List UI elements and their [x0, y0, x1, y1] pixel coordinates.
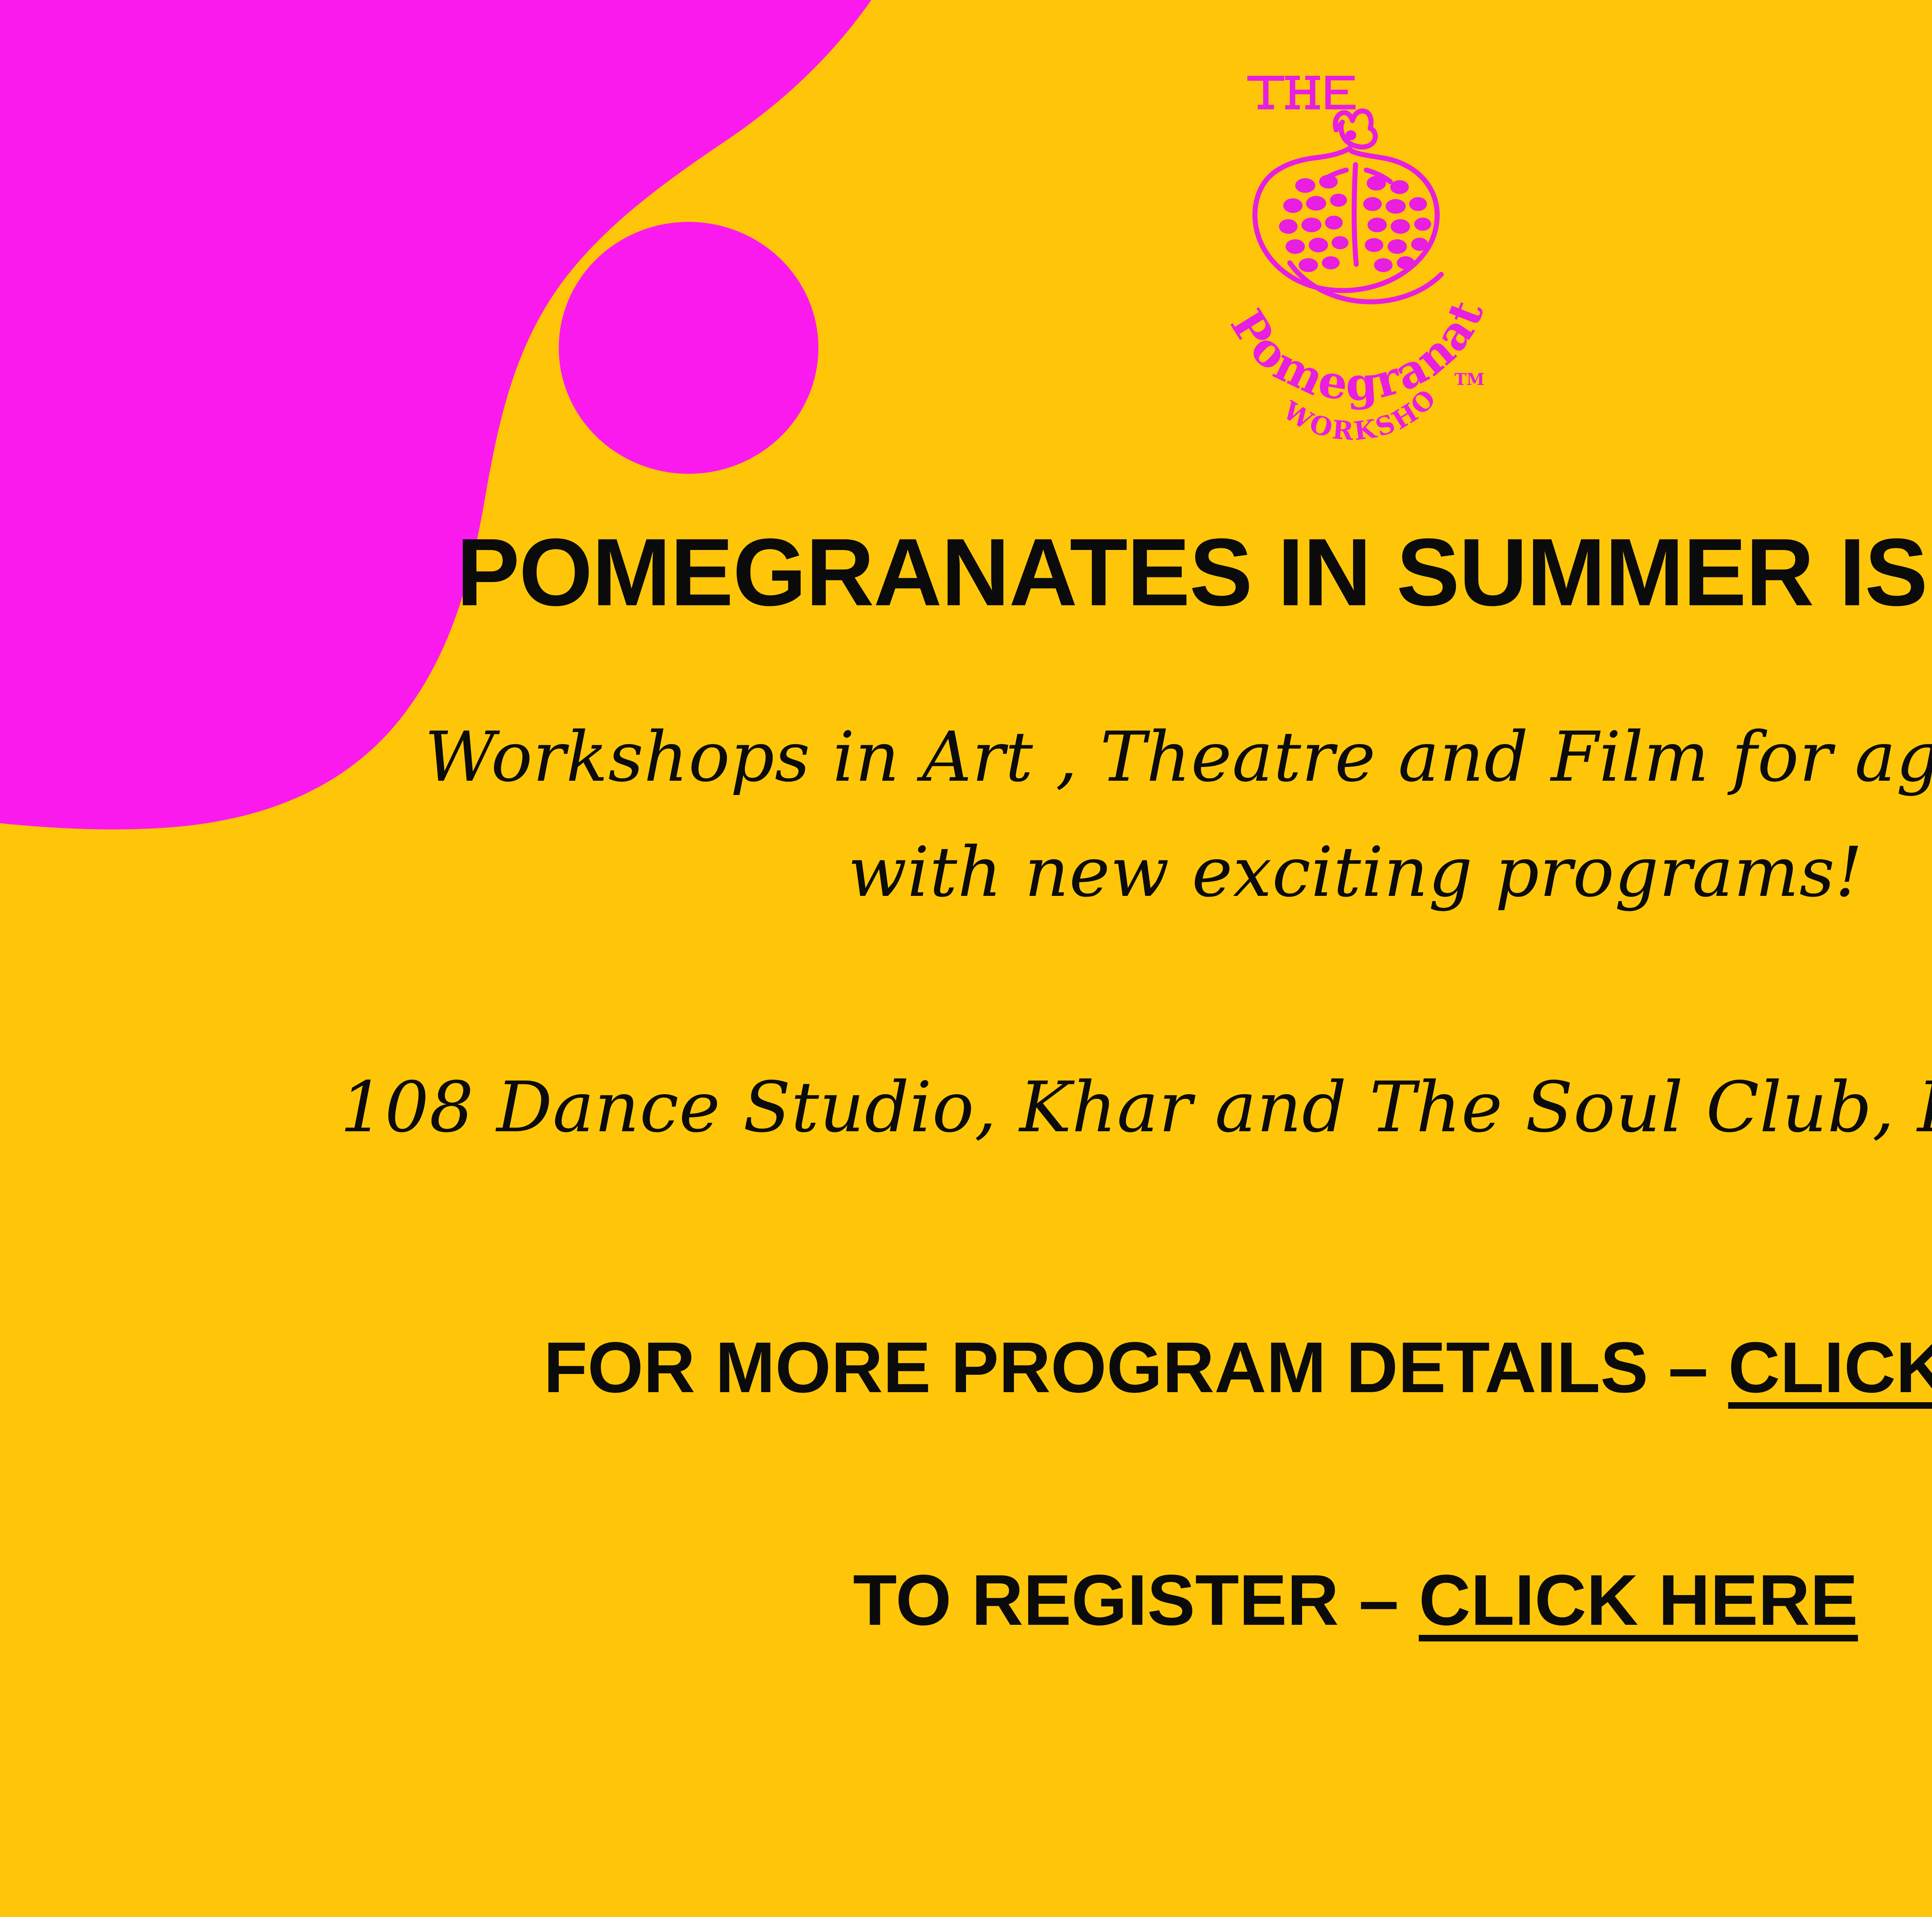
- poster-text-content: POMEGRANATES IN SUMMER IS BACK! Workshop…: [0, 0, 1932, 1917]
- register-click-here-link[interactable]: CLICK HERE: [1419, 1560, 1858, 1640]
- promo-poster: Pomegranate WORKSHOP TM POMEGRANATES IN …: [0, 0, 1932, 1917]
- venue-line: 108 Dance Studio, Khar and The Soul Club…: [0, 1073, 1932, 1142]
- program-details-cta: FOR MORE PROGRAM DETAILS – CLICK HERE: [0, 1332, 1932, 1404]
- register-label: TO REGISTER –: [853, 1560, 1419, 1640]
- subtitle-line-1: Workshops in Art , Theatre and Film for …: [0, 723, 1932, 792]
- subtitle-line-2: with new exciting programs!: [0, 838, 1932, 907]
- register-cta: TO REGISTER – CLICK HERE: [0, 1565, 1932, 1636]
- program-details-label: FOR MORE PROGRAM DETAILS –: [544, 1328, 1728, 1408]
- page-title: POMEGRANATES IN SUMMER IS BACK!: [14, 524, 1932, 620]
- program-details-click-here-link[interactable]: CLICK HERE: [1728, 1328, 1932, 1408]
